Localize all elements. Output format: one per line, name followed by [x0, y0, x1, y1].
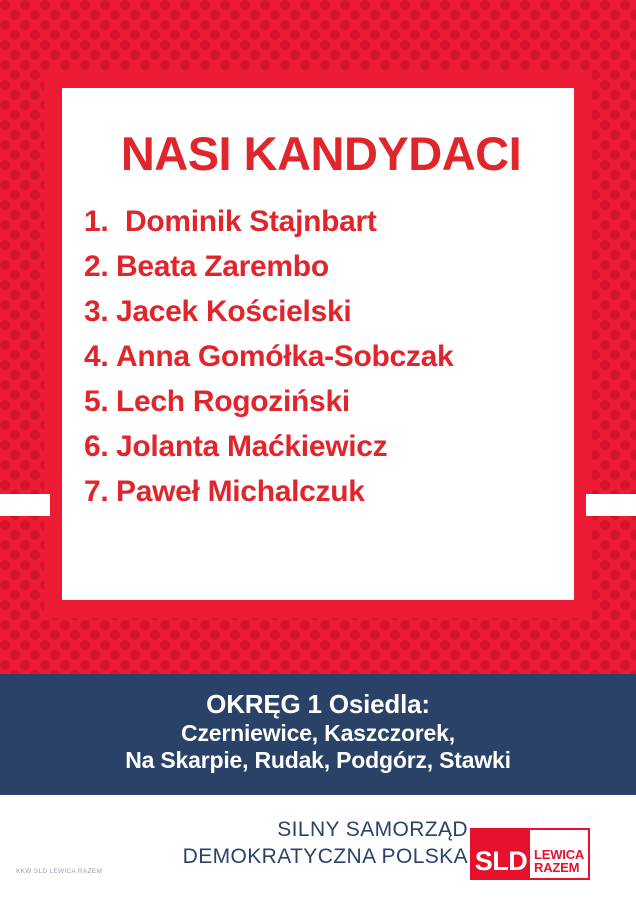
- page-title: NASI KANDYDACI: [84, 130, 558, 177]
- list-item: 2. Beata Zarembo: [84, 252, 558, 282]
- sld-logo-mark: SLD: [472, 830, 530, 878]
- slogan-line-1: SILNY SAMORZĄD: [183, 817, 468, 844]
- candidate-number: 7.: [84, 477, 116, 507]
- list-item: 7. Paweł Michalczuk: [84, 477, 558, 507]
- candidate-name: Anna Gomółka-Sobczak: [116, 342, 453, 372]
- list-item: 5. Lech Rogoziński: [84, 387, 558, 417]
- list-item: 1. Dominik Stajnbart: [84, 207, 558, 237]
- candidate-number: 1.: [84, 207, 125, 237]
- campaign-slogan: SILNY SAMORZĄD DEMOKRATYCZNA POLSKA: [183, 817, 468, 871]
- candidates-section: NASI KANDYDACI 1. Dominik Stajnbart 2. B…: [62, 88, 574, 600]
- candidate-name: Dominik Stajnbart: [125, 207, 377, 237]
- committee-fine-print: KKW SLD LEWICA RAZEM: [16, 868, 102, 875]
- district-neighborhoods-line-2: Na Skarpie, Rudak, Podgórz, Stawki: [0, 747, 636, 775]
- district-heading: OKRĘG 1 Osiedla:: [0, 689, 636, 720]
- candidate-name: Paweł Michalczuk: [116, 477, 365, 507]
- campaign-poster: NASI KANDYDACI 1. Dominik Stajnbart 2. B…: [0, 0, 636, 900]
- sld-logo-subtitle: LEWICA RAZEM: [530, 830, 588, 878]
- candidate-number: 5.: [84, 387, 116, 417]
- district-band: OKRĘG 1 Osiedla: Czerniewice, Kaszczorek…: [0, 674, 636, 795]
- candidate-number: 3.: [84, 297, 116, 327]
- sld-logo-subtitle-line-1: LEWICA: [534, 848, 584, 862]
- slogan-line-2: DEMOKRATYCZNA POLSKA: [183, 844, 468, 871]
- right-edge-accent-bar: [586, 494, 636, 516]
- left-edge-accent-bar: [0, 494, 50, 516]
- list-item: 3. Jacek Kościelski: [84, 297, 558, 327]
- sld-party-logo: SLD LEWICA RAZEM: [470, 828, 590, 880]
- candidate-name: Lech Rogoziński: [116, 387, 350, 417]
- district-neighborhoods-line-1: Czerniewice, Kaszczorek,: [0, 720, 636, 748]
- candidate-name: Beata Zarembo: [116, 252, 329, 282]
- candidate-number: 2.: [84, 252, 116, 282]
- candidate-name: Jolanta Maćkiewicz: [116, 432, 387, 462]
- candidate-number: 6.: [84, 432, 116, 462]
- candidate-list: 1. Dominik Stajnbart 2. Beata Zarembo 3.…: [84, 207, 558, 507]
- candidate-number: 4.: [84, 342, 116, 372]
- list-item: 6. Jolanta Maćkiewicz: [84, 432, 558, 462]
- sld-logo-subtitle-line-2: RAZEM: [534, 861, 579, 875]
- list-item: 4. Anna Gomółka-Sobczak: [84, 342, 558, 372]
- candidate-name: Jacek Kościelski: [116, 297, 351, 327]
